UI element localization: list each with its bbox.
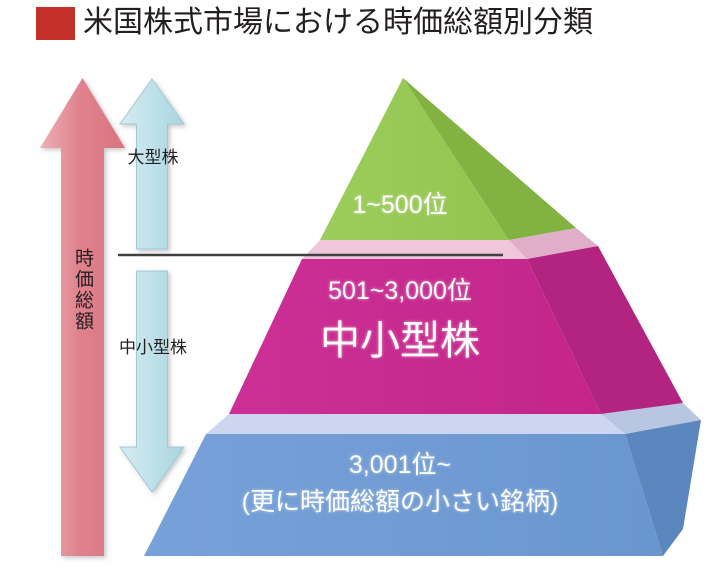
large-cap-rank-label: 1~500位: [300, 191, 500, 219]
mid-small-cap-name-label: 中小型株: [280, 318, 520, 364]
micro-cap-rank-label: 3,001位~: [300, 451, 500, 479]
mid-small-cap-bracket-label: 中小型株: [105, 338, 201, 358]
market-cap-axis-label: 時価総額: [73, 248, 95, 332]
diagram-page: 米国株式市場における時価総額別分類: [0, 0, 720, 574]
mid-small-cap-rank-label: 501~3,000位: [280, 277, 520, 305]
mid-small-cap-arrow-down-icon: [120, 271, 184, 492]
large-cap-bracket-label: 大型株: [113, 148, 193, 168]
micro-cap-note-label: (更に時価総額の小さい銘柄): [210, 488, 590, 516]
pyramid-tier-micro-cap: [144, 403, 701, 556]
